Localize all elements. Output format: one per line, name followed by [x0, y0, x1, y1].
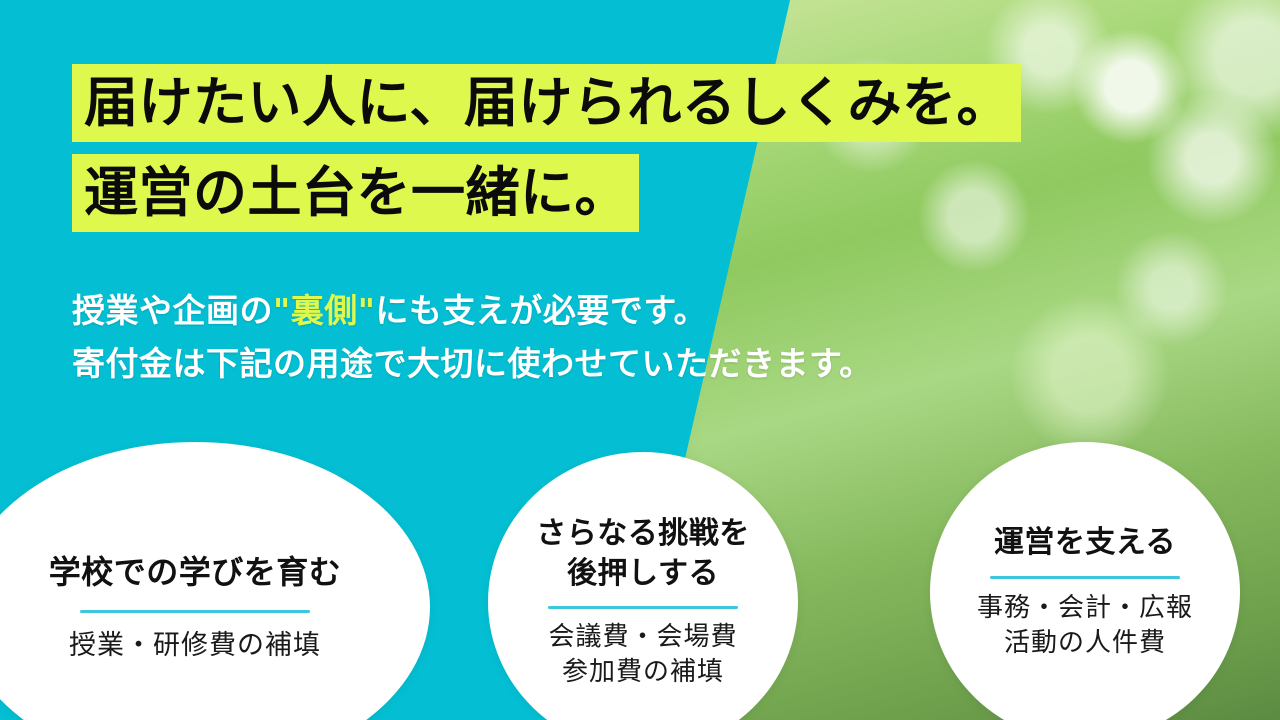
badge-divider [990, 576, 1180, 579]
subtitle-line-2: 寄付金は下記の用途で大切に使わせていただきます。 [72, 337, 873, 390]
subtitle: 授業や企画の"裏側"にも支えが必要です。 寄付金は下記の用途で大切に使わせていた… [72, 284, 873, 390]
badge-title: 学校での学びを育む [49, 551, 342, 593]
subtitle-line-1-after: にも支えが必要です。 [375, 291, 707, 330]
subtitle-line-1-highlight: "裏側" [273, 291, 375, 330]
subtitle-line-1-before: 授業や企画の [72, 291, 273, 330]
badge-title: さらなる挑戦を 後押しする [536, 514, 750, 594]
subtitle-line-1: 授業や企画の"裏側"にも支えが必要です。 [72, 284, 873, 337]
headline-line-1: 届けたい人に、届けられるしくみを。 [72, 64, 1021, 142]
badge-body: 授業・研修費の補填 [69, 628, 321, 664]
badge-title: 運営を支える [994, 523, 1176, 563]
headline-line-2: 運営の土台を一緒に。 [72, 154, 639, 232]
badge-divider [80, 610, 310, 613]
badge-divider [548, 606, 738, 609]
badge-body: 会議費・会場費 参加費の補填 [548, 620, 737, 690]
badge-body: 事務・会計・広報 活動の人件費 [977, 591, 1193, 661]
donation-usage-slide: 届けたい人に、届けられるしくみを。 運営の土台を一緒に。 授業や企画の"裏側"に… [0, 0, 1280, 720]
headline: 届けたい人に、届けられるしくみを。 運営の土台を一緒に。 [72, 64, 1021, 232]
